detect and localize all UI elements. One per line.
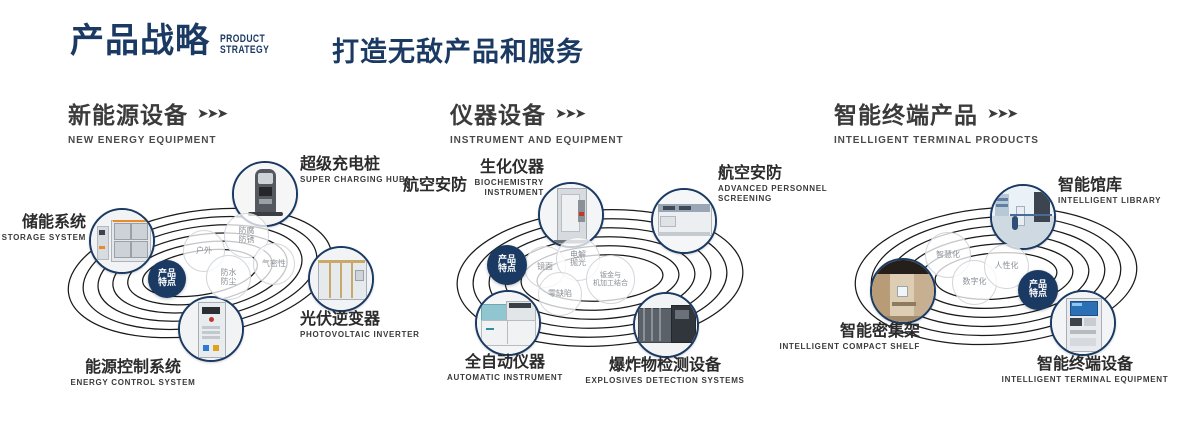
product-strategy-infographic: 产品战略 PRODUCT STRATEGY 打造无敌产品和服务 新能源设备➤➤➤… bbox=[0, 0, 1200, 422]
section-title-cn: 智能终端产品 bbox=[834, 96, 978, 130]
feature-line2: 防锈 bbox=[239, 235, 255, 244]
advanced-personnel-screening-photo bbox=[653, 190, 715, 252]
caption-cn: 储能系统 bbox=[0, 213, 86, 231]
caption-aviation-security: 航空安防 bbox=[337, 176, 467, 194]
caption-en: ENERGY CONTROL SYSTEM bbox=[28, 378, 238, 388]
page-header: 产品战略 PRODUCT STRATEGY bbox=[70, 24, 283, 58]
cluster-intelligent-terminal: 智能馆库 INTELLIGENT LIBRARY 智能密集架 INTELLIGE… bbox=[800, 150, 1200, 400]
node-explosives-detection-systems[interactable] bbox=[633, 292, 699, 358]
section-title-new-energy: 新能源设备➤➤➤ NEW ENERGY EQUIPMENT bbox=[68, 96, 226, 146]
intelligent-compact-shelf-photo bbox=[872, 260, 934, 322]
section-title-instrument: 仪器设备➤➤➤ INSTRUMENT AND EQUIPMENT bbox=[450, 96, 623, 146]
center-bubble-line2: 特点 bbox=[498, 264, 516, 274]
node-advanced-personnel-screening[interactable] bbox=[651, 188, 717, 254]
caption-cn: 能源控制系统 bbox=[28, 358, 238, 376]
caption-cn: 智能密集架 bbox=[730, 322, 920, 340]
feature-bubble-3: 防水 防尘 bbox=[206, 255, 251, 300]
explosives-detection-systems-photo bbox=[635, 294, 697, 356]
caption-en: EXPLOSIVES DETECTION SYSTEMS bbox=[565, 376, 765, 386]
page-title-en-line2: STRATEGY bbox=[220, 45, 269, 56]
chevron-right-icon: ➤➤➤ bbox=[987, 105, 1016, 122]
feature-line2: 抛光 bbox=[570, 258, 586, 267]
node-intelligent-library[interactable] bbox=[990, 184, 1056, 250]
feature-line1: 数字化 bbox=[963, 277, 987, 286]
feature-line1: 镜面 bbox=[537, 262, 553, 271]
caption-intelligent-terminal-equipment: 智能终端设备 INTELLIGENT TERMINAL EQUIPMENT bbox=[985, 355, 1185, 385]
caption-intelligent-library: 智能馆库 INTELLIGENT LIBRARY bbox=[1058, 176, 1200, 206]
energy-storage-system-photo bbox=[91, 210, 153, 272]
feature-line2: 机加工结合 bbox=[593, 279, 628, 287]
chevron-right-icon: ➤➤➤ bbox=[197, 105, 226, 122]
section-title-intelligent-terminal: 智能终端产品➤➤➤ INTELLIGENT TERMINAL PRODUCTS bbox=[834, 96, 1039, 146]
node-intelligent-compact-shelf[interactable] bbox=[870, 258, 936, 324]
caption-energy-storage-system: 储能系统 ENERGY STORAGE SYSTEM bbox=[0, 213, 86, 243]
node-energy-control-system[interactable] bbox=[178, 296, 244, 362]
caption-en: ENERGY STORAGE SYSTEM bbox=[0, 233, 86, 243]
center-bubble-line2: 特点 bbox=[1029, 289, 1047, 299]
caption-energy-control-system: 能源控制系统 ENERGY CONTROL SYSTEM bbox=[28, 358, 238, 388]
feature-bubble-4: 零缺陷 bbox=[538, 272, 582, 316]
caption-en: INTELLIGENT LIBRARY bbox=[1058, 196, 1200, 206]
page-title-en: PRODUCT STRATEGY bbox=[220, 34, 269, 56]
center-bubble-product-features: 产品 特点 bbox=[487, 245, 527, 285]
section-title-en: NEW ENERGY EQUIPMENT bbox=[68, 135, 226, 146]
feature-bubble-4: 气密性 bbox=[253, 243, 295, 285]
intelligent-library-photo bbox=[992, 186, 1054, 248]
section-title-en: INSTRUMENT AND EQUIPMENT bbox=[450, 135, 623, 146]
section-title-cn: 仪器设备 bbox=[450, 96, 546, 130]
section-title-en: INTELLIGENT TERMINAL PRODUCTS bbox=[834, 135, 1039, 146]
cluster-instrument: 生化仪器 BIOCHEMISTRY INSTRUMENT 航空安防 航空安防 A… bbox=[400, 150, 800, 400]
node-automatic-instrument[interactable] bbox=[475, 290, 541, 356]
caption-cn: 航空安防 bbox=[337, 176, 467, 194]
section-title-cn: 新能源设备 bbox=[68, 96, 188, 130]
center-bubble-product-features: 产品 特点 bbox=[1018, 270, 1058, 310]
caption-en: INTELLIGENT COMPACT SHELF bbox=[730, 342, 920, 352]
caption-en: INTELLIGENT TERMINAL EQUIPMENT bbox=[985, 375, 1185, 385]
node-photovoltaic-inverter[interactable] bbox=[308, 246, 374, 312]
node-intelligent-terminal-equipment[interactable] bbox=[1050, 290, 1116, 356]
feature-bubble-3: 钣金与 机加工结合 bbox=[586, 255, 635, 304]
caption-intelligent-compact-shelf: 智能密集架 INTELLIGENT COMPACT SHELF bbox=[730, 322, 920, 352]
feature-line1: 零缺陷 bbox=[548, 289, 572, 298]
energy-control-system-photo bbox=[180, 298, 242, 360]
intelligent-terminal-equipment-photo bbox=[1052, 292, 1114, 354]
page-tagline: 打造无敌产品和服务 bbox=[332, 30, 584, 69]
chevron-right-icon: ➤➤➤ bbox=[555, 105, 584, 122]
center-bubble-line2: 特点 bbox=[158, 278, 176, 288]
feature-line2: 防尘 bbox=[221, 277, 237, 286]
node-energy-storage-system[interactable] bbox=[89, 208, 155, 274]
caption-cn: 智能馆库 bbox=[1058, 176, 1200, 194]
feature-line1: 户外 bbox=[196, 246, 212, 255]
caption-cn: 智能终端设备 bbox=[985, 355, 1185, 373]
caption-cn: 爆炸物检测设备 bbox=[565, 356, 765, 374]
biochemistry-instrument-photo bbox=[540, 184, 602, 246]
automatic-instrument-photo bbox=[477, 292, 539, 354]
page-title-cn: 产品战略 bbox=[70, 24, 210, 58]
feature-line1: 智慧化 bbox=[936, 250, 960, 259]
center-bubble-product-features: 产品 特点 bbox=[148, 260, 186, 298]
caption-cn: 生化仪器 bbox=[420, 158, 544, 176]
feature-line1: 人性化 bbox=[995, 261, 1019, 270]
photovoltaic-inverter-photo bbox=[310, 248, 372, 310]
feature-line1: 气密性 bbox=[262, 259, 286, 268]
caption-explosives-detection-systems: 爆炸物检测设备 EXPLOSIVES DETECTION SYSTEMS bbox=[565, 356, 765, 386]
